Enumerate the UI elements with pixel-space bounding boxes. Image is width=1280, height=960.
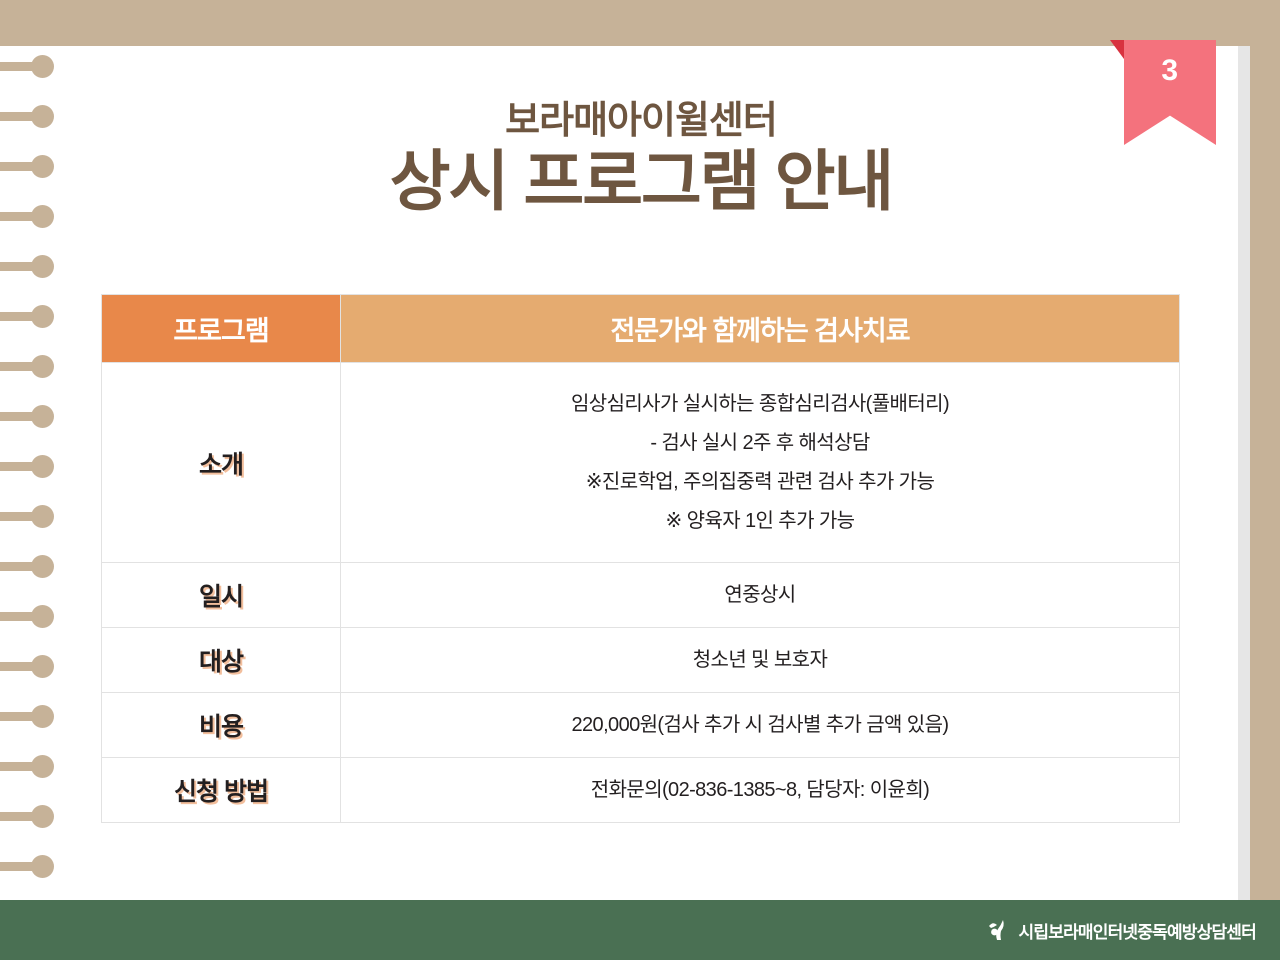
title-block: 보라매아이윌센터 상시 프로그램 안내 [101, 100, 1181, 218]
spiral-ring [0, 762, 48, 771]
program-table: 프로그램 전문가와 함께하는 검사치료 소개임상심리사가 실시하는 종합심리검사… [101, 294, 1180, 823]
row-value-line: 청소년 및 보호자 [351, 641, 1169, 680]
footer-bar: 시립보라매인터넷중독예방상담센터 [0, 900, 1280, 960]
table-row: 일시연중상시 [102, 563, 1180, 628]
page-number-ribbon: 3 [1124, 40, 1216, 145]
row-value: 220,000원(검사 추가 시 검사별 추가 금액 있음) [341, 693, 1180, 758]
spiral-ring [0, 662, 48, 671]
footer-logo: 시립보라매인터넷중독예방상담센터 [983, 900, 1256, 960]
spiral-ring [0, 612, 48, 621]
table-body: 소개임상심리사가 실시하는 종합심리검사(풀배터리)- 검사 실시 2주 후 해… [102, 363, 1180, 823]
row-value-line: 임상심리사가 실시하는 종합심리검사(풀배터리) [351, 385, 1169, 424]
spiral-binding [0, 46, 70, 900]
spiral-ring [0, 812, 48, 821]
spiral-ring [0, 312, 48, 321]
row-label: 신청 방법 [102, 758, 341, 823]
table-header-treatment: 전문가와 함께하는 검사치료 [341, 295, 1180, 363]
spiral-ring [0, 862, 48, 871]
table-header-row: 프로그램 전문가와 함께하는 검사치료 [102, 295, 1180, 363]
row-value: 전화문의(02-836-1385~8, 담당자: 이윤희) [341, 758, 1180, 823]
spiral-ring [0, 212, 48, 221]
row-value-line: 전화문의(02-836-1385~8, 담당자: 이윤희) [351, 771, 1169, 810]
subtitle: 보라매아이윌센터 [101, 100, 1181, 143]
row-value-line: 220,000원(검사 추가 시 검사별 추가 금액 있음) [351, 706, 1169, 745]
table-row: 대상청소년 및 보호자 [102, 628, 1180, 693]
row-value-line: ※ 양육자 1인 추가 가능 [351, 502, 1169, 541]
row-value-line: 연중상시 [351, 576, 1169, 615]
spiral-ring [0, 112, 48, 121]
table-row: 비용220,000원(검사 추가 시 검사별 추가 금액 있음) [102, 693, 1180, 758]
row-value: 임상심리사가 실시하는 종합심리검사(풀배터리)- 검사 실시 2주 후 해석상… [341, 363, 1180, 563]
row-value-line: - 검사 실시 2주 후 해석상담 [351, 424, 1169, 463]
spiral-ring [0, 512, 48, 521]
spiral-ring [0, 412, 48, 421]
table-row: 소개임상심리사가 실시하는 종합심리검사(풀배터리)- 검사 실시 2주 후 해… [102, 363, 1180, 563]
spiral-ring [0, 712, 48, 721]
row-value: 연중상시 [341, 563, 1180, 628]
table-row: 신청 방법전화문의(02-836-1385~8, 담당자: 이윤희) [102, 758, 1180, 823]
row-label: 대상 [102, 628, 341, 693]
row-label: 비용 [102, 693, 341, 758]
page-number: 3 [1124, 54, 1216, 88]
row-label: 소개 [102, 363, 341, 563]
footer-text: 시립보라매인터넷중독예방상담센터 [1019, 918, 1256, 943]
row-value-line: ※진로학업, 주의집중력 관련 검사 추가 가능 [351, 463, 1169, 502]
page-title: 상시 프로그램 안내 [101, 145, 1181, 219]
table-header-program: 프로그램 [102, 295, 341, 363]
spiral-ring [0, 162, 48, 171]
person-logo-icon [983, 915, 1013, 945]
spiral-ring [0, 262, 48, 271]
spiral-ring [0, 62, 48, 71]
spiral-ring [0, 562, 48, 571]
row-label: 일시 [102, 563, 341, 628]
spiral-ring [0, 462, 48, 471]
spiral-ring [0, 362, 48, 371]
row-value: 청소년 및 보호자 [341, 628, 1180, 693]
